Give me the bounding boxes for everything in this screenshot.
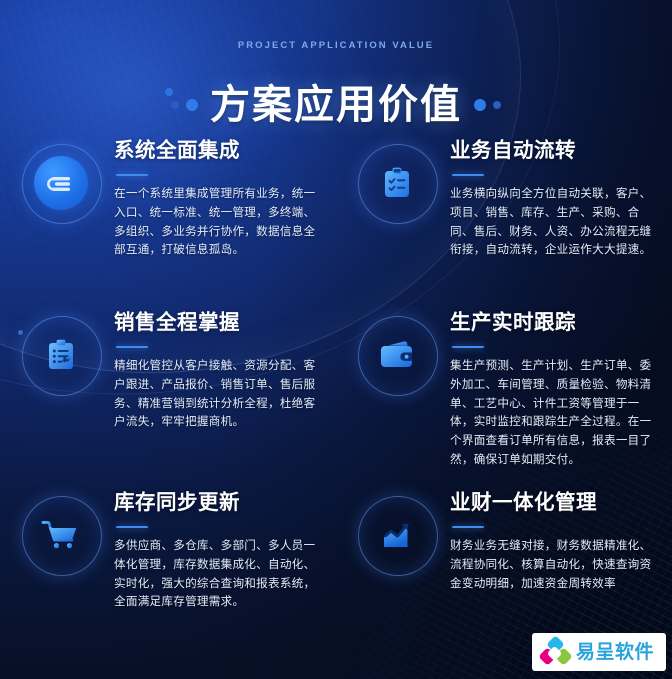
- card-icon-wrap: [358, 316, 436, 394]
- card-title: 销售全程掌握: [114, 312, 322, 335]
- value-card-grid: 系统全面集成 在一个系统里集成管理所有业务，统一入口、统一标准、统一管理，多终端…: [0, 128, 672, 630]
- card-icon-wrap: [358, 144, 436, 222]
- card-title: 业务自动流转: [450, 140, 658, 163]
- title-dots-left: [171, 99, 198, 111]
- clipboard-check-icon: [372, 158, 422, 208]
- card-body: 销售全程掌握 精细化管控从客户接触、资源分配、客户跟进、产品报价、销售订单、售后…: [100, 304, 322, 480]
- poster-stage: PROJECT APPLICATION VALUE 方案应用价值: [0, 0, 672, 679]
- brand-logo[interactable]: 易呈软件: [532, 633, 666, 671]
- card-body: 系统全面集成 在一个系统里集成管理所有业务，统一入口、统一标准、统一管理，多终端…: [100, 132, 322, 300]
- card-divider: [116, 346, 148, 349]
- dot-large-icon: [186, 99, 198, 111]
- shopping-cart-icon: [36, 510, 86, 560]
- card-body: 业务自动流转 业务横向纵向全方位自动关联，客户、项目、销售、库存、生产、采购、合…: [436, 132, 658, 300]
- four-diamond-logo-mark-icon: [541, 639, 569, 665]
- card-description: 业务横向纵向全方位自动关联，客户、项目、销售、库存、生产、采购、合同、售后、财务…: [450, 185, 658, 260]
- brand-name: 易呈软件: [576, 643, 654, 662]
- card-body: 库存同步更新 多供应商、多仓库、多部门、多人员一体化管理，库存数据集成化、自动化…: [100, 484, 322, 630]
- value-card[interactable]: 业财一体化管理 财务业务无缝对接，财务数据精准化、流程协同化、核算自动化，快速查…: [336, 480, 672, 630]
- card-body: 业财一体化管理 财务业务无缝对接，财务数据精准化、流程协同化、核算自动化，快速查…: [436, 484, 658, 630]
- card-icon-wrap: [358, 496, 436, 574]
- card-title: 业财一体化管理: [450, 492, 658, 515]
- card-description: 财务业务无缝对接，财务数据精准化、流程协同化、核算自动化，快速查询资金变动明细，…: [450, 537, 658, 593]
- card-description: 在一个系统里集成管理所有业务，统一入口、统一标准、统一管理，多终端、多组织、多业…: [114, 185, 322, 260]
- card-title: 生产实时跟踪: [450, 312, 658, 335]
- chart-growth-icon: [372, 510, 422, 560]
- card-description: 集生产预测、生产计划、生产订单、委外加工、车间管理、质量检验、物料清单、工艺中心…: [450, 357, 658, 470]
- card-divider: [452, 174, 484, 177]
- card-divider: [452, 346, 484, 349]
- card-icon-wrap: [22, 144, 100, 222]
- value-card[interactable]: 业务自动流转 业务横向纵向全方位自动关联，客户、项目、销售、库存、生产、采购、合…: [336, 128, 672, 300]
- card-divider: [116, 174, 148, 177]
- dot-small-icon: [171, 101, 179, 109]
- card-title: 库存同步更新: [114, 492, 322, 515]
- title-dots-right: [474, 99, 501, 111]
- dot-large-icon: [474, 99, 486, 111]
- card-divider: [452, 526, 484, 529]
- header-eyebrow: PROJECT APPLICATION VALUE: [0, 40, 672, 51]
- wallet-icon: [372, 330, 422, 380]
- page-title: 方案应用价值: [210, 85, 462, 125]
- card-body: 生产实时跟踪 集生产预测、生产计划、生产订单、委外加工、车间管理、质量检验、物料…: [436, 304, 658, 480]
- dot-small-icon: [493, 101, 501, 109]
- clipboard-wrench-icon: [36, 330, 86, 380]
- value-card[interactable]: 生产实时跟踪 集生产预测、生产计划、生产订单、委外加工、车间管理、质量检验、物料…: [336, 300, 672, 480]
- value-card[interactable]: 销售全程掌握 精细化管控从客户接触、资源分配、客户跟进、产品报价、销售订单、售后…: [0, 300, 336, 480]
- card-description: 精细化管控从客户接触、资源分配、客户跟进、产品报价、销售订单、售后服务、精准营销…: [114, 357, 322, 432]
- list-lines-icon: [36, 158, 86, 208]
- value-card[interactable]: 系统全面集成 在一个系统里集成管理所有业务，统一入口、统一标准、统一管理，多终端…: [0, 128, 336, 300]
- card-icon-wrap: [22, 316, 100, 394]
- value-card[interactable]: 库存同步更新 多供应商、多仓库、多部门、多人员一体化管理，库存数据集成化、自动化…: [0, 480, 336, 630]
- card-icon-wrap: [22, 496, 100, 574]
- card-description: 多供应商、多仓库、多部门、多人员一体化管理，库存数据集成化、自动化、实时化，强大…: [114, 537, 322, 612]
- card-divider: [116, 526, 148, 529]
- card-title: 系统全面集成: [114, 140, 322, 163]
